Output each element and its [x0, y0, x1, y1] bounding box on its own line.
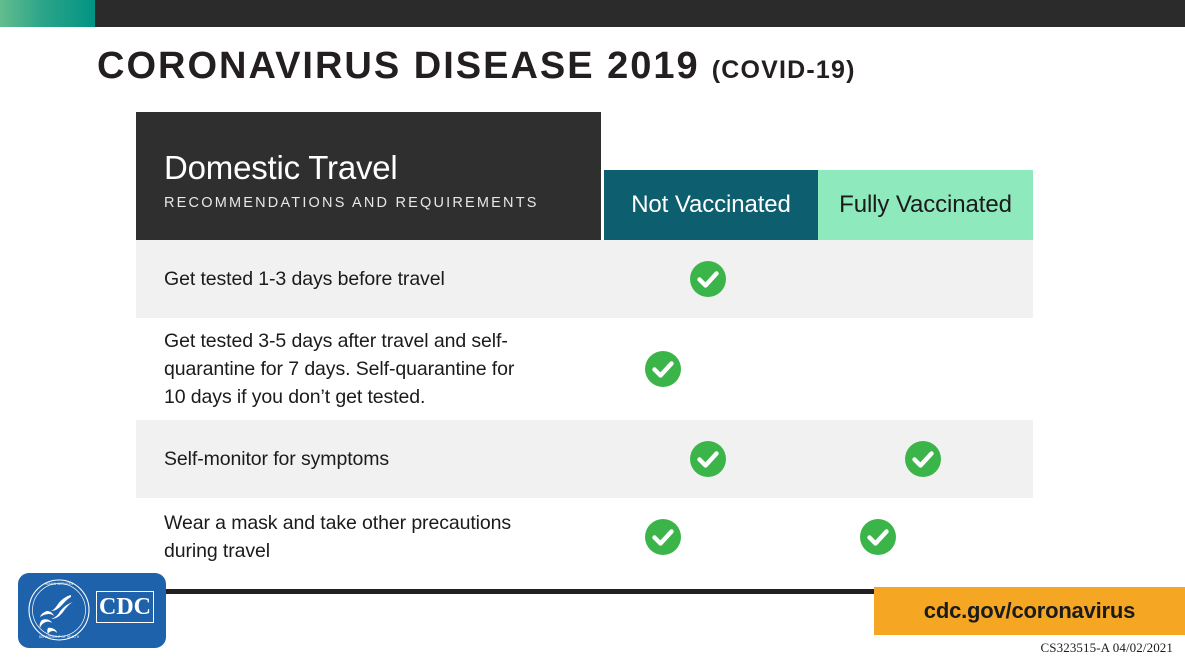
- cell-fully-vaccinated: [815, 260, 1030, 298]
- column-header-not-vaccinated: Not Vaccinated: [604, 170, 818, 240]
- table-header-title-block: Domestic Travel RECOMMENDATIONS AND REQU…: [136, 112, 601, 240]
- green-check-circle-icon: [689, 440, 727, 478]
- top-bar: [0, 0, 1185, 27]
- page-title-parenthetical: (COVID-19): [712, 58, 856, 83]
- cdc-url-text: cdc.gov/coronavirus: [924, 598, 1135, 624]
- column-header-fully-vaccinated: Fully Vaccinated: [818, 170, 1033, 240]
- page-title-main: CORONAVIRUS DISEASE 2019: [97, 47, 700, 85]
- top-bar-accent: [0, 0, 95, 27]
- cell-not-vaccinated: [556, 518, 770, 556]
- table-header: Domestic Travel RECOMMENDATIONS AND REQU…: [136, 112, 1033, 240]
- column-header-not-vaccinated-label: Not Vaccinated: [631, 191, 791, 219]
- green-check-circle-icon: [859, 518, 897, 556]
- cell-fully-vaccinated: [815, 440, 1030, 478]
- column-header-fully-vaccinated-label: Fully Vaccinated: [839, 191, 1012, 219]
- table-title: Domestic Travel: [164, 150, 601, 187]
- no-mark: [904, 260, 942, 298]
- footer-divider: [155, 589, 877, 594]
- table-subtitle: RECOMMENDATIONS AND REQUIREMENTS: [164, 195, 601, 211]
- table-row: Get tested 3-5 days after travel and sel…: [136, 318, 1033, 420]
- cell-not-vaccinated: [601, 440, 815, 478]
- svg-text:HUMAN SERVICES: HUMAN SERVICES: [45, 582, 74, 586]
- svg-text:DEPARTMENT OF HEALTH: DEPARTMENT OF HEALTH: [39, 635, 80, 639]
- green-check-circle-icon: [644, 518, 682, 556]
- green-check-circle-icon: [904, 440, 942, 478]
- cell-not-vaccinated: [601, 260, 815, 298]
- row-label: Wear a mask and take other precautions d…: [136, 509, 556, 566]
- cell-fully-vaccinated: [770, 350, 985, 388]
- no-mark: [859, 350, 897, 388]
- green-check-circle-icon: [644, 350, 682, 388]
- cdc-logo: HUMAN SERVICES DEPARTMENT OF HEALTH CDC: [18, 573, 166, 648]
- infographic-page: CORONAVIRUS DISEASE 2019 (COVID-19) Dome…: [0, 0, 1185, 667]
- cell-not-vaccinated: [556, 350, 770, 388]
- green-check-circle-icon: [689, 260, 727, 298]
- publication-code: CS323515-A 04/02/2021: [1041, 640, 1173, 656]
- row-label: Self-monitor for symptoms: [136, 445, 601, 473]
- cell-fully-vaccinated: [770, 518, 985, 556]
- table-row: Self-monitor for symptoms: [136, 420, 1033, 498]
- row-label: Get tested 1-3 days before travel: [136, 265, 601, 293]
- travel-recommendations-table: Domestic Travel RECOMMENDATIONS AND REQU…: [136, 112, 1033, 576]
- table-row: Wear a mask and take other precautions d…: [136, 498, 1033, 576]
- cdc-url-banner[interactable]: cdc.gov/coronavirus: [874, 587, 1185, 635]
- table-row: Get tested 1-3 days before travel: [136, 240, 1033, 318]
- cdc-wordmark-box: CDC: [96, 591, 154, 623]
- page-title: CORONAVIRUS DISEASE 2019 (COVID-19): [97, 47, 856, 85]
- hhs-seal-icon: HUMAN SERVICES DEPARTMENT OF HEALTH: [27, 578, 91, 642]
- cdc-wordmark: CDC: [99, 595, 151, 619]
- row-label: Get tested 3-5 days after travel and sel…: [136, 327, 556, 412]
